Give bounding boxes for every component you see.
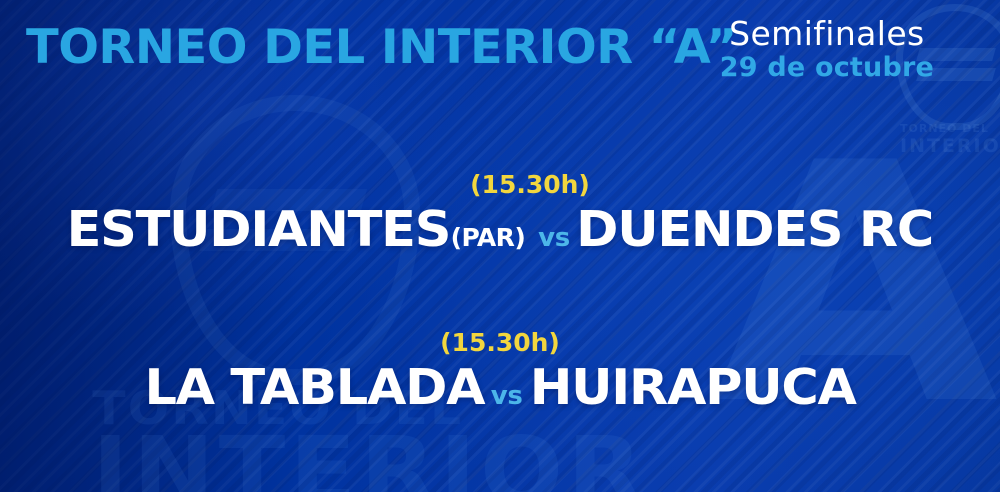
versus-separator: vs (491, 383, 523, 409)
match-teams: LA TABLADA vs HUIRAPUCA (0, 363, 1000, 412)
stage-info: Semifinales 29 de octubre (720, 16, 934, 83)
match-list: (15.30h) ESTUDIANTES (PAR) vs DUENDES RC… (0, 172, 1000, 412)
stage-date: 29 de octubre (720, 52, 934, 84)
stage-name: Semifinales (720, 16, 934, 52)
match-row: (15.30h) LA TABLADA vs HUIRAPUCA (0, 330, 1000, 412)
match-kickoff-time: (15.30h) (0, 172, 1000, 197)
match-teams: ESTUDIANTES (PAR) vs DUENDES RC (0, 205, 1000, 254)
versus-separator: vs (538, 225, 570, 251)
match-row: (15.30h) ESTUDIANTES (PAR) vs DUENDES RC (0, 172, 1000, 254)
tournament-fixture-poster: A TORNEO DEL INTERIOR TORNEO DEL INTERIO… (0, 0, 1000, 492)
home-team-name: LA TABLADA (144, 363, 484, 412)
home-team-qualifier: (PAR) (451, 225, 525, 250)
home-team-name: ESTUDIANTES (66, 205, 450, 254)
away-team-name: HUIRAPUCA (529, 363, 855, 412)
page-title: TORNEO DEL INTERIOR “A” (26, 20, 737, 75)
away-team-name: DUENDES RC (576, 205, 933, 254)
match-kickoff-time: (15.30h) (0, 330, 1000, 355)
poster-content: TORNEO DEL INTERIOR “A” Semifinales 29 d… (0, 0, 1000, 492)
